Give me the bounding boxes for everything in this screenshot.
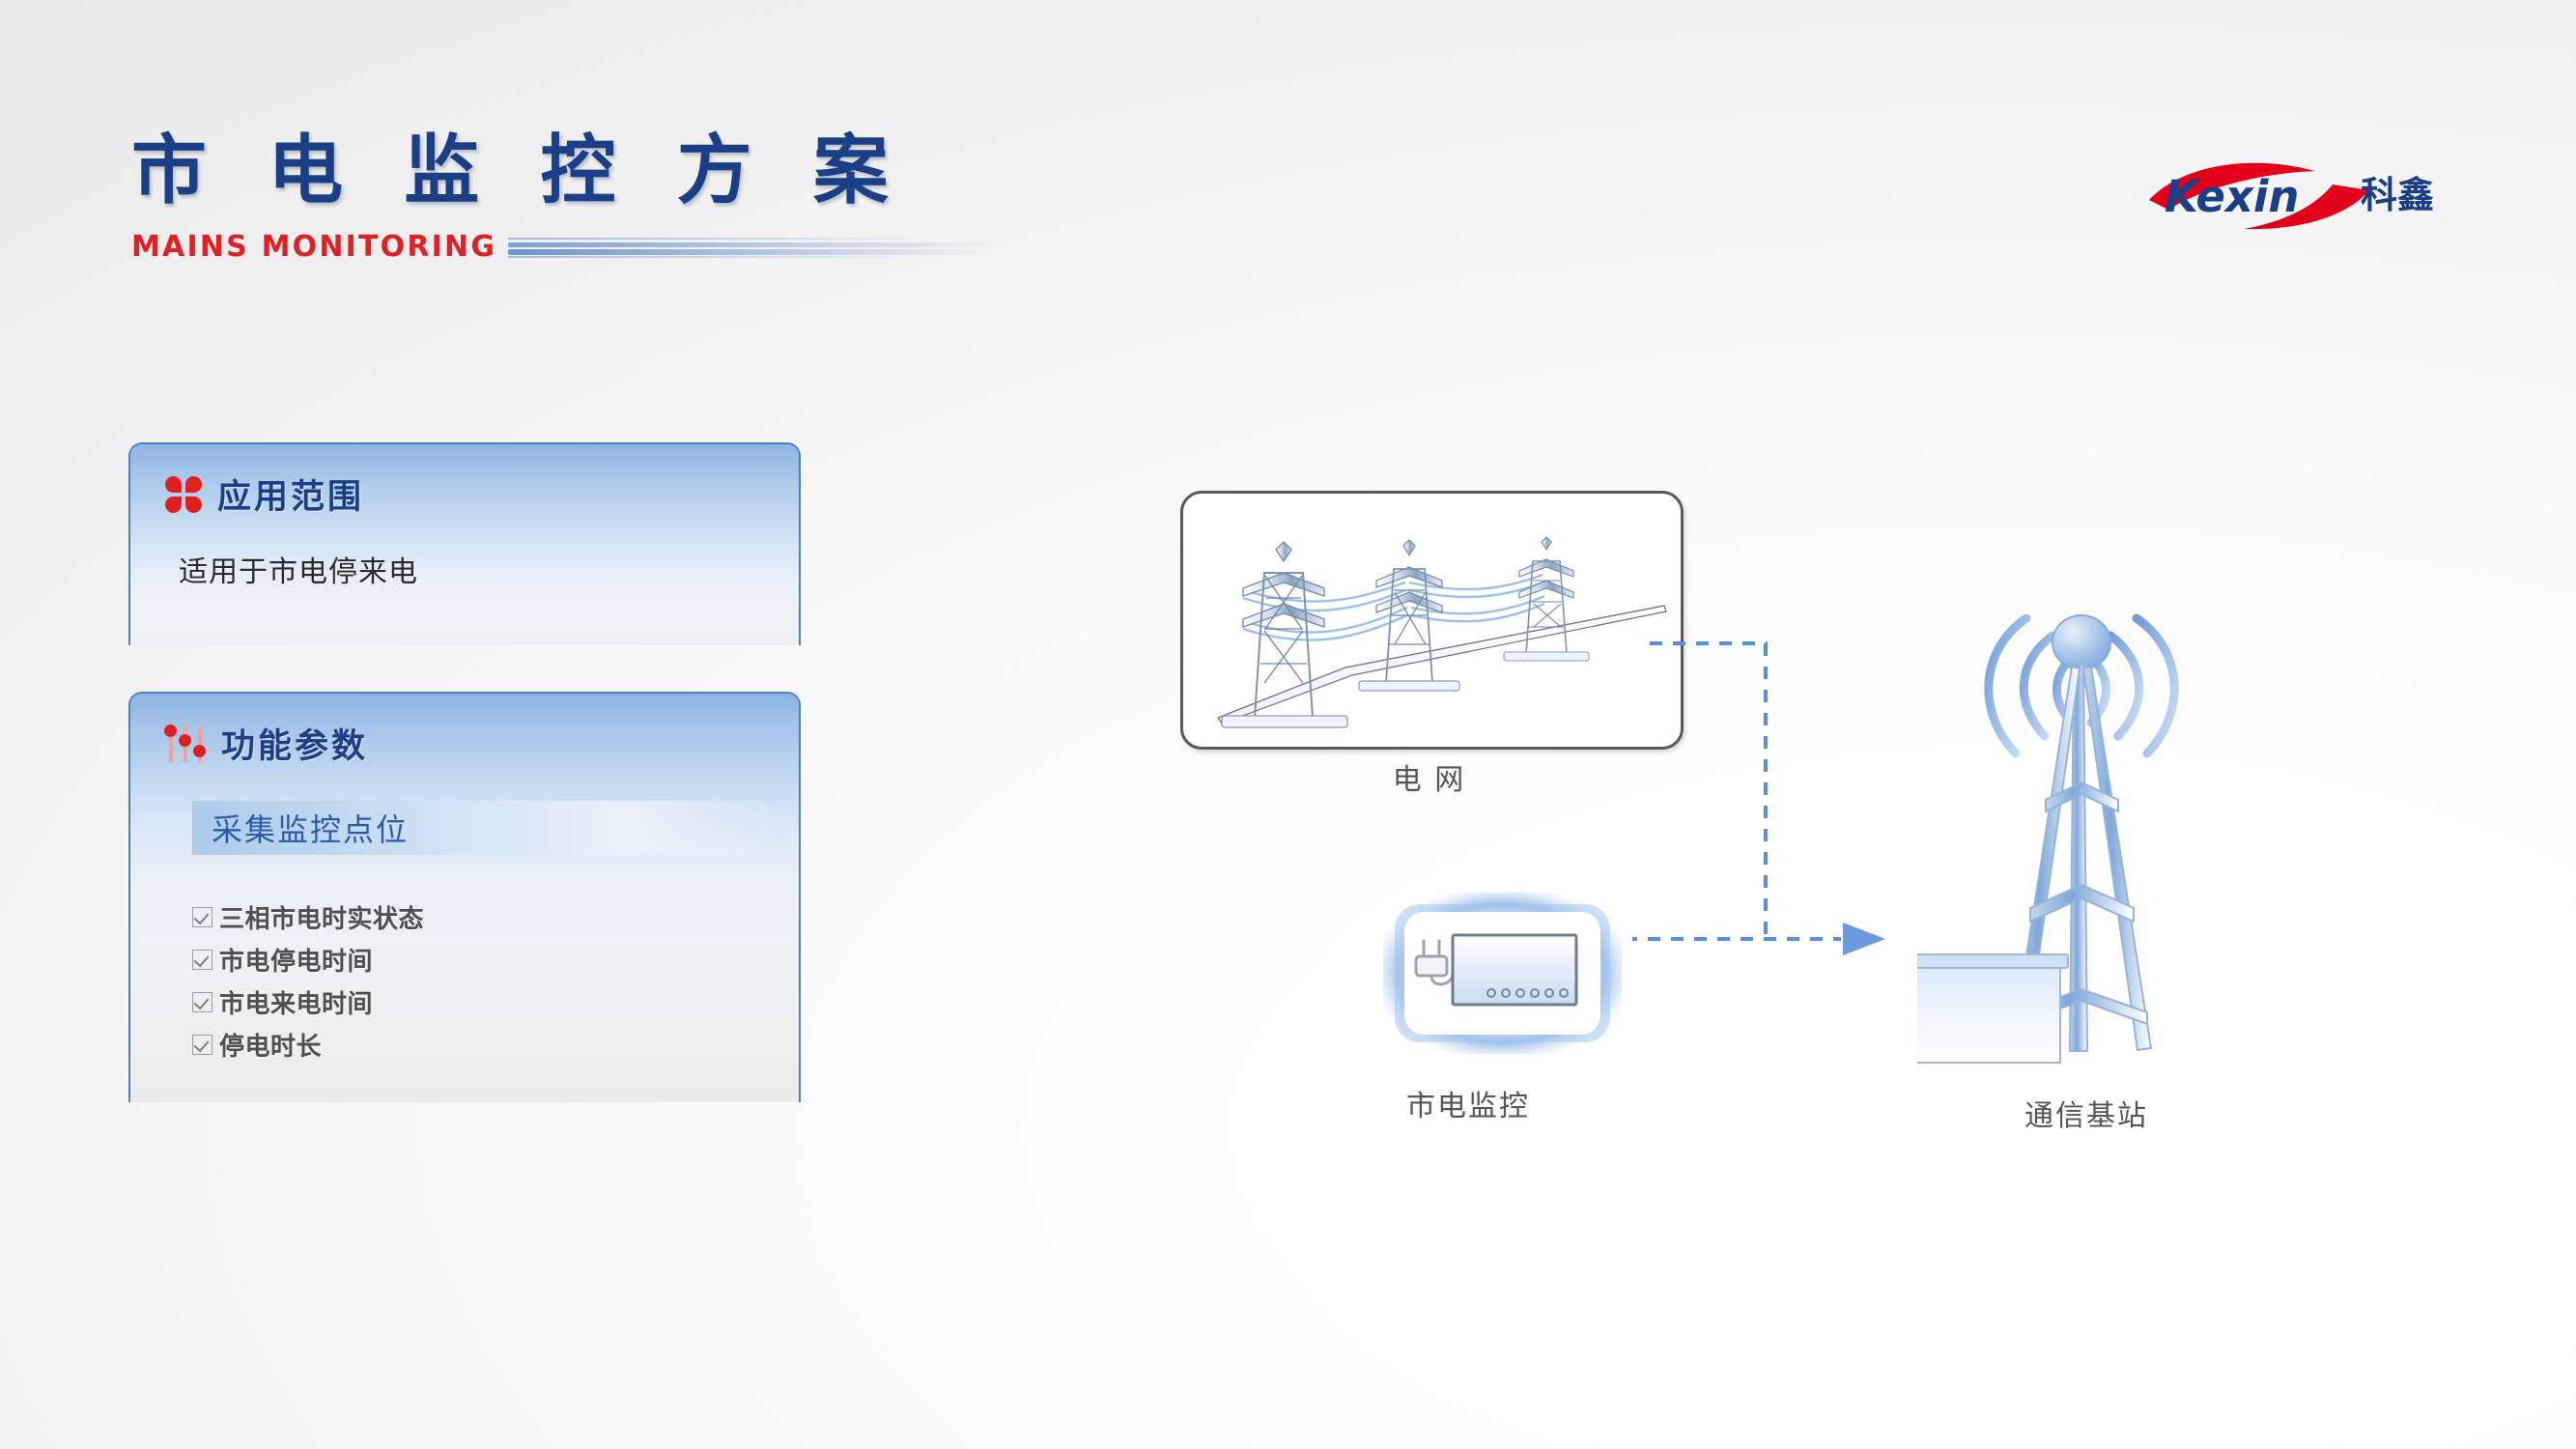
list-item-label: 停电时长 [219,1027,322,1063]
card-title: 功能参数 [221,719,368,768]
arrow-head-icon [1843,923,1885,955]
list-item[interactable]: 市电停电时间 [192,942,799,978]
scope-description: 适用于市电停来电 [179,548,799,590]
list-item-label: 市电来电时间 [219,984,373,1020]
list-item[interactable]: 停电时长 [192,1027,799,1063]
subheading-label: 采集监控点位 [192,806,409,850]
card-function-parameters: 功能参数 采集监控点位 三相市电时实状态 市电停电时间 [128,692,801,1102]
power-grid-box [1180,491,1684,750]
checkbox-checked-icon[interactable] [192,907,212,927]
mains-monitor-device-icon [1379,889,1626,1058]
card-application-scope: 应用范围 适用于市电停来电 [128,442,801,645]
subtitle-row: MAINS MONITORING [131,230,1010,264]
cell-tower-icon [1917,522,2246,1067]
page-title: 市 电 监 控 方 案 [131,133,1010,209]
card-title: 应用范围 [217,469,364,519]
card-body: 采集监控点位 三相市电时实状态 市电停电时间 市电来电时间 [130,801,799,1063]
collection-points-subheading: 采集监控点位 [192,801,791,855]
card-header: 功能参数 [130,694,799,768]
connector-lines [1632,609,1951,976]
list-item[interactable]: 三相市电时实状态 [192,899,799,935]
checkbox-checked-icon[interactable] [192,950,212,970]
slide-canvas: 市 电 监 控 方 案 MAINS MONITORING Kexin 科鑫 [0,0,2576,1449]
svg-text:科鑫: 科鑫 [2361,174,2434,216]
bts-label: 通信基站 [1927,1092,2246,1134]
checkbox-checked-icon[interactable] [192,1035,212,1055]
kexin-logo: Kexin 科鑫 [2143,157,2462,233]
cell-tower [1917,522,2246,1067]
page-subtitle: MAINS MONITORING [131,230,496,264]
flower-icon [165,476,202,513]
list-item-label: 三相市电时实状态 [219,899,424,935]
list-item-label: 市电停电时间 [219,942,373,978]
list-item[interactable]: 市电来电时间 [192,984,799,1020]
checkbox-checked-icon[interactable] [192,992,212,1012]
power-transmission-towers-icon [1183,494,1681,747]
grid-label: 电 网 [1180,755,1678,798]
sliders-icon [165,724,206,763]
parameter-list: 三相市电时实状态 市电停电时间 市电来电时间 停电时长 [192,899,799,1063]
svg-text:Kexin: Kexin [2165,171,2299,222]
subtitle-decor-lines [508,235,1010,260]
device-label: 市电监控 [1285,1082,1652,1124]
card-header: 应用范围 [130,444,799,519]
card-body: 适用于市电停来电 [130,548,799,590]
header-title-block: 市 电 监 控 方 案 MAINS MONITORING [131,133,1010,264]
mains-monitor-device [1379,889,1626,1058]
